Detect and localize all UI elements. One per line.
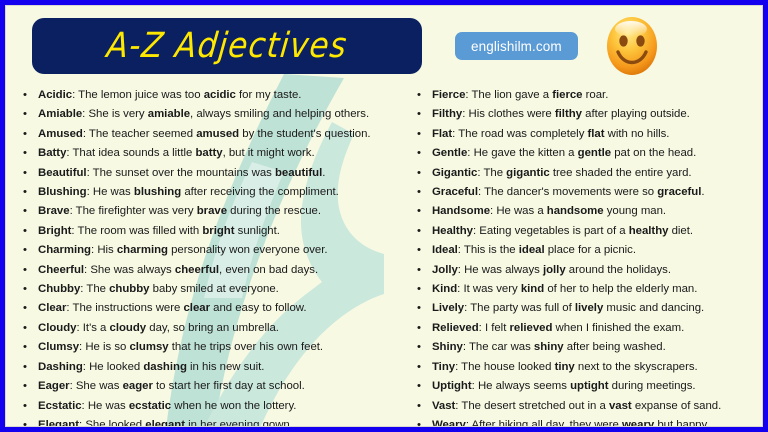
sentence-prefix: She is very bbox=[88, 108, 147, 120]
adjective-item: •Tiny: The house looked tiny next to the… bbox=[412, 358, 756, 377]
bullet-icon: • bbox=[417, 416, 421, 427]
sentence-suffix: in her evening gown. bbox=[185, 419, 293, 427]
sentence-highlight: cloudy bbox=[110, 322, 147, 334]
sentence-suffix: . bbox=[701, 186, 704, 198]
adjective-word: Brave bbox=[38, 205, 70, 217]
adjective-item: •Fierce: The lion gave a fierce roar. bbox=[412, 86, 756, 105]
bullet-icon: • bbox=[417, 377, 421, 396]
bullet-icon: • bbox=[417, 319, 421, 338]
bullet-icon: • bbox=[417, 338, 421, 357]
sentence-highlight: flat bbox=[588, 128, 605, 140]
adjective-item: •Chubby: The chubby baby smiled at every… bbox=[18, 280, 406, 299]
bullet-icon: • bbox=[23, 241, 27, 260]
sentence-suffix: when I finished the exam. bbox=[552, 322, 684, 334]
sentence-highlight: amiable bbox=[148, 108, 190, 120]
sentence-highlight: ideal bbox=[519, 244, 545, 256]
adjective-word: Charming bbox=[38, 244, 91, 256]
adjective-sentence: Eating vegetables is part of a healthy d… bbox=[479, 225, 693, 237]
adjective-word: Ecstatic bbox=[38, 400, 82, 412]
bullet-icon: • bbox=[417, 183, 421, 202]
sentence-highlight: shiny bbox=[534, 341, 564, 353]
poster-header: A-Z Adjectives englishilm.com bbox=[6, 6, 762, 86]
adjective-item: •Shiny: The car was shiny after being wa… bbox=[412, 338, 756, 357]
adjective-sentence: The party was full of lively music and d… bbox=[470, 302, 704, 314]
sentence-suffix: during meetings. bbox=[609, 380, 696, 392]
sentence-suffix: after being washed. bbox=[564, 341, 666, 353]
bullet-icon: • bbox=[23, 164, 27, 183]
adjective-sentence: He gave the kitten a gentle pat on the h… bbox=[474, 147, 697, 159]
bullet-icon: • bbox=[23, 261, 27, 280]
smiley-face-icon bbox=[604, 15, 660, 77]
bullet-icon: • bbox=[23, 202, 27, 221]
bullet-icon: • bbox=[23, 105, 27, 124]
sentence-highlight: fierce bbox=[552, 89, 582, 101]
adjective-sentence: I felt relieved when I finished the exam… bbox=[485, 322, 684, 334]
sentence-highlight: dashing bbox=[143, 361, 187, 373]
sentence-suffix: day, so bring an umbrella. bbox=[146, 322, 279, 334]
left-column: •Acidic: The lemon juice was too acidic … bbox=[12, 86, 406, 427]
sentence-prefix: She was always bbox=[90, 264, 175, 276]
adjective-item: •Kind: It was very kind of her to help t… bbox=[412, 280, 756, 299]
sentence-suffix: sunlight. bbox=[235, 225, 280, 237]
sentence-prefix: The sunset over the mountains was bbox=[93, 167, 275, 179]
adjective-item: •Ideal: This is the ideal place for a pi… bbox=[412, 241, 756, 260]
adjective-sentence: His clothes were filthy after playing ou… bbox=[469, 108, 690, 120]
sentence-prefix: The firefighter was very bbox=[76, 205, 197, 217]
sentence-highlight: jolly bbox=[543, 264, 566, 276]
sentence-highlight: lively bbox=[575, 302, 603, 314]
adjective-item: •Elegant: She looked elegant in her even… bbox=[18, 416, 406, 427]
adjective-sentence: The lemon juice was too acidic for my ta… bbox=[78, 89, 301, 101]
adjective-item: •Graceful: The dancer's movements were s… bbox=[412, 183, 756, 202]
bullet-icon: • bbox=[417, 358, 421, 377]
sentence-prefix: The instructions were bbox=[73, 302, 184, 314]
sentence-highlight: vast bbox=[609, 400, 632, 412]
adjective-sentence: The car was shiny after being washed. bbox=[469, 341, 666, 353]
sentence-suffix: , always smiling and helping others. bbox=[190, 108, 369, 120]
sentence-prefix: He gave the kitten a bbox=[474, 147, 578, 159]
bullet-icon: • bbox=[417, 261, 421, 280]
sentence-suffix: for my taste. bbox=[236, 89, 302, 101]
adjective-sentence: The gigantic tree shaded the entire yard… bbox=[483, 167, 691, 179]
adjective-word: Beautiful bbox=[38, 167, 87, 179]
sentence-suffix: after playing outside. bbox=[582, 108, 690, 120]
site-badge[interactable]: englishilm.com bbox=[455, 32, 578, 60]
bullet-icon: • bbox=[23, 144, 27, 163]
sentence-suffix: . bbox=[322, 167, 325, 179]
sentence-highlight: tiny bbox=[555, 361, 575, 373]
adjective-sentence: After hiking all day, they were weary bu… bbox=[472, 419, 710, 427]
poster-frame: A-Z Adjectives englishilm.com bbox=[0, 0, 768, 432]
sentence-highlight: bright bbox=[202, 225, 234, 237]
adjective-word: Elegant bbox=[38, 419, 79, 427]
adjective-item: •Dashing: He looked dashing in his new s… bbox=[18, 358, 406, 377]
adjective-word: Blushing bbox=[38, 186, 87, 198]
adjective-sentence: She is very amiable, always smiling and … bbox=[88, 108, 369, 120]
adjective-item: •Charming: His charming personality won … bbox=[18, 241, 406, 260]
sentence-highlight: eager bbox=[123, 380, 153, 392]
sentence-suffix: personality won everyone over. bbox=[168, 244, 328, 256]
adjective-item: •Flat: The road was completely flat with… bbox=[412, 125, 756, 144]
adjective-sentence: It was very kind of her to help the elde… bbox=[463, 283, 697, 295]
adjective-sentence: The teacher seemed amused by the student… bbox=[89, 128, 371, 140]
adjective-word: Vast bbox=[432, 400, 455, 412]
adjective-word: Cloudy bbox=[38, 322, 76, 334]
sentence-prefix: That idea sounds a little bbox=[72, 147, 195, 159]
sentence-suffix: after receiving the compliment. bbox=[181, 186, 339, 198]
adjective-word: Shiny bbox=[432, 341, 463, 353]
sentence-suffix: , even on bad days. bbox=[219, 264, 318, 276]
sentence-prefix: The room was filled with bbox=[78, 225, 203, 237]
adjective-word: Dashing bbox=[38, 361, 83, 373]
adjective-item: •Blushing: He was blushing after receivi… bbox=[18, 183, 406, 202]
adjective-sentence: The sunset over the mountains was beauti… bbox=[93, 167, 326, 179]
adjective-list-left: •Acidic: The lemon juice was too acidic … bbox=[18, 86, 406, 427]
adjective-word: Chubby bbox=[38, 283, 80, 295]
adjective-sentence: His charming personality won everyone ov… bbox=[97, 244, 327, 256]
adjective-item: •Acidic: The lemon juice was too acidic … bbox=[18, 86, 406, 105]
adjective-sentence: She was always cheerful, even on bad day… bbox=[90, 264, 318, 276]
sentence-suffix: with no hills. bbox=[605, 128, 670, 140]
adjective-sentence: The room was filled with bright sunlight… bbox=[78, 225, 280, 237]
adjective-list-right: •Fierce: The lion gave a fierce roar.•Fi… bbox=[412, 86, 756, 427]
sentence-suffix: that he trips over his own feet. bbox=[169, 341, 323, 353]
sentence-prefix: The car was bbox=[469, 341, 534, 353]
right-column: •Fierce: The lion gave a fierce roar.•Fi… bbox=[406, 86, 756, 427]
adjective-word: Relieved bbox=[432, 322, 479, 334]
adjective-word: Amused bbox=[38, 128, 83, 140]
sentence-suffix: music and dancing. bbox=[603, 302, 704, 314]
bullet-icon: • bbox=[417, 202, 421, 221]
sentence-highlight: graceful bbox=[657, 186, 701, 198]
bullet-icon: • bbox=[23, 125, 27, 144]
bullet-icon: • bbox=[417, 86, 421, 105]
adjective-sentence: The house looked tiny next to the skyscr… bbox=[461, 361, 698, 373]
sentence-highlight: batty bbox=[195, 147, 222, 159]
sentence-suffix: roar. bbox=[583, 89, 609, 101]
bullet-icon: • bbox=[23, 377, 27, 396]
sentence-highlight: clear bbox=[183, 302, 210, 314]
bullet-icon: • bbox=[23, 86, 27, 105]
bullet-icon: • bbox=[23, 183, 27, 202]
sentence-highlight: uptight bbox=[570, 380, 608, 392]
adjective-sentence: He always seems uptight during meetings. bbox=[478, 380, 696, 392]
sentence-prefix: It's a bbox=[83, 322, 110, 334]
adjective-word: Flat bbox=[432, 128, 452, 140]
sentence-prefix: The bbox=[483, 167, 506, 179]
sentence-suffix: young man. bbox=[604, 205, 666, 217]
sentence-prefix: After hiking all day, they were bbox=[472, 419, 622, 427]
adjective-columns: •Acidic: The lemon juice was too acidic … bbox=[6, 86, 762, 427]
sentence-prefix: His bbox=[97, 244, 117, 256]
sentence-prefix: The dancer's movements were so bbox=[484, 186, 657, 198]
adjective-item: •Cheerful: She was always cheerful, even… bbox=[18, 261, 406, 280]
sentence-suffix: tree shaded the entire yard. bbox=[550, 167, 692, 179]
adjective-sentence: The dancer's movements were so graceful. bbox=[484, 186, 704, 198]
sentence-highlight: ecstatic bbox=[129, 400, 171, 412]
adjective-word: Cheerful bbox=[38, 264, 84, 276]
adjective-word: Lively bbox=[432, 302, 464, 314]
adjective-word: Amiable bbox=[38, 108, 82, 120]
sentence-prefix: He was bbox=[93, 186, 134, 198]
sentence-highlight: healthy bbox=[629, 225, 669, 237]
sentence-suffix: pat on the head. bbox=[611, 147, 696, 159]
adjective-word: Bright bbox=[38, 225, 71, 237]
sentence-highlight: elegant bbox=[145, 419, 185, 427]
adjective-sentence: It's a cloudy day, so bring an umbrella. bbox=[83, 322, 279, 334]
adjective-word: Eager bbox=[38, 380, 70, 392]
sentence-prefix: It was very bbox=[463, 283, 520, 295]
sentence-suffix: expanse of sand. bbox=[632, 400, 722, 412]
adjective-word: Weary bbox=[432, 419, 466, 427]
bullet-icon: • bbox=[417, 241, 421, 260]
sentence-suffix: during the rescue. bbox=[227, 205, 321, 217]
adjective-sentence: She looked elegant in her evening gown. bbox=[85, 419, 293, 427]
sentence-highlight: weary bbox=[622, 419, 654, 427]
adjective-word: Gentle bbox=[432, 147, 467, 159]
adjective-word: Acidic bbox=[38, 89, 72, 101]
sentence-highlight: handsome bbox=[547, 205, 604, 217]
adjective-sentence: He was ecstatic when he won the lottery. bbox=[88, 400, 297, 412]
bullet-icon: • bbox=[23, 358, 27, 377]
bullet-icon: • bbox=[417, 144, 421, 163]
adjective-word: Gigantic bbox=[432, 167, 477, 179]
site-badge-label: englishilm.com bbox=[471, 39, 562, 54]
sentence-prefix: The bbox=[86, 283, 109, 295]
adjective-sentence: He is so clumsy that he trips over his o… bbox=[85, 341, 323, 353]
sentence-prefix: He was bbox=[88, 400, 129, 412]
adjective-sentence: The lion gave a fierce roar. bbox=[471, 89, 608, 101]
adjective-item: •Bright: The room was filled with bright… bbox=[18, 222, 406, 241]
sentence-prefix: The house looked bbox=[461, 361, 554, 373]
adjective-sentence: That idea sounds a little batty, but it … bbox=[72, 147, 314, 159]
poster-page: A-Z Adjectives englishilm.com bbox=[5, 5, 763, 427]
sentence-suffix: baby smiled at everyone. bbox=[149, 283, 278, 295]
adjective-word: Graceful bbox=[432, 186, 478, 198]
adjective-item: •Relieved: I felt relieved when I finish… bbox=[412, 319, 756, 338]
sentence-suffix: , but it might work. bbox=[223, 147, 315, 159]
adjective-item: •Vast: The desert stretched out in a vas… bbox=[412, 397, 756, 416]
sentence-prefix: The party was full of bbox=[470, 302, 575, 314]
sentence-prefix: She looked bbox=[85, 419, 145, 427]
bullet-icon: • bbox=[23, 416, 27, 427]
adjective-word: Uptight bbox=[432, 380, 472, 392]
adjective-word: Clear bbox=[38, 302, 66, 314]
sentence-suffix: when he won the lottery. bbox=[171, 400, 296, 412]
adjective-sentence: The road was completely flat with no hil… bbox=[458, 128, 669, 140]
sentence-highlight: clumsy bbox=[129, 341, 168, 353]
sentence-prefix: The lemon juice was too bbox=[78, 89, 204, 101]
adjective-word: Clumsy bbox=[38, 341, 79, 353]
sentence-prefix: He looked bbox=[89, 361, 143, 373]
sentence-prefix: The desert stretched out in a bbox=[461, 400, 609, 412]
adjective-item: •Gigantic: The gigantic tree shaded the … bbox=[412, 164, 756, 183]
bullet-icon: • bbox=[23, 338, 27, 357]
adjective-sentence: The instructions were clear and easy to … bbox=[73, 302, 307, 314]
title-banner: A-Z Adjectives bbox=[32, 18, 422, 74]
adjective-sentence: The firefighter was very brave during th… bbox=[76, 205, 321, 217]
sentence-prefix: The lion gave a bbox=[471, 89, 552, 101]
sentence-suffix: diet. bbox=[668, 225, 693, 237]
sentence-prefix: Eating vegetables is part of a bbox=[479, 225, 628, 237]
adjective-word: Ideal bbox=[432, 244, 458, 256]
adjective-item: •Cloudy: It's a cloudy day, so bring an … bbox=[18, 319, 406, 338]
adjective-word: Kind bbox=[432, 283, 457, 295]
adjective-word: Healthy bbox=[432, 225, 473, 237]
sentence-highlight: charming bbox=[117, 244, 168, 256]
adjective-word: Batty bbox=[38, 147, 66, 159]
bullet-icon: • bbox=[417, 299, 421, 318]
sentence-highlight: relieved bbox=[510, 322, 553, 334]
adjective-word: Filthy bbox=[432, 108, 462, 120]
sentence-suffix: to start her first day at school. bbox=[153, 380, 305, 392]
sentence-highlight: kind bbox=[521, 283, 544, 295]
sentence-highlight: blushing bbox=[134, 186, 181, 198]
sentence-highlight: chubby bbox=[109, 283, 149, 295]
adjective-item: •Ecstatic: He was ecstatic when he won t… bbox=[18, 397, 406, 416]
sentence-prefix: I felt bbox=[485, 322, 510, 334]
sentence-highlight: acidic bbox=[204, 89, 236, 101]
adjective-sentence: He was always jolly around the holidays. bbox=[464, 264, 671, 276]
adjective-sentence: The chubby baby smiled at everyone. bbox=[86, 283, 278, 295]
adjective-word: Tiny bbox=[432, 361, 455, 373]
sentence-prefix: The road was completely bbox=[458, 128, 587, 140]
sentence-highlight: beautiful bbox=[275, 167, 322, 179]
sentence-prefix: She was bbox=[76, 380, 123, 392]
adjective-word: Handsome bbox=[432, 205, 490, 217]
sentence-suffix: around the holidays. bbox=[566, 264, 671, 276]
bullet-icon: • bbox=[23, 222, 27, 241]
bullet-icon: • bbox=[417, 105, 421, 124]
adjective-item: •Uptight: He always seems uptight during… bbox=[412, 377, 756, 396]
sentence-suffix: but happy. bbox=[654, 419, 709, 427]
bullet-icon: • bbox=[23, 319, 27, 338]
adjective-sentence: He was a handsome young man. bbox=[496, 205, 666, 217]
adjective-item: •Clear: The instructions were clear and … bbox=[18, 299, 406, 318]
adjective-word: Jolly bbox=[432, 264, 458, 276]
adjective-item: •Clumsy: He is so clumsy that he trips o… bbox=[18, 338, 406, 357]
sentence-suffix: by the student's question. bbox=[239, 128, 370, 140]
sentence-highlight: gentle bbox=[578, 147, 611, 159]
sentence-prefix: He was always bbox=[464, 264, 543, 276]
adjective-item: •Batty: That idea sounds a little batty,… bbox=[18, 144, 406, 163]
adjective-item: •Eager: She was eager to start her first… bbox=[18, 377, 406, 396]
sentence-prefix: The teacher seemed bbox=[89, 128, 196, 140]
adjective-sentence: She was eager to start her first day at … bbox=[76, 380, 305, 392]
sentence-suffix: in his new suit. bbox=[187, 361, 265, 373]
adjective-sentence: He was blushing after receiving the comp… bbox=[93, 186, 339, 198]
sentence-suffix: place for a picnic. bbox=[545, 244, 636, 256]
adjective-item: •Handsome: He was a handsome young man. bbox=[412, 202, 756, 221]
sentence-suffix: of her to help the elderly man. bbox=[544, 283, 697, 295]
adjective-item: •Amused: The teacher seemed amused by th… bbox=[18, 125, 406, 144]
adjective-sentence: He looked dashing in his new suit. bbox=[89, 361, 264, 373]
bullet-icon: • bbox=[417, 164, 421, 183]
bullet-icon: • bbox=[417, 222, 421, 241]
sentence-prefix: This is the bbox=[464, 244, 519, 256]
bullet-icon: • bbox=[417, 125, 421, 144]
sentence-highlight: cheerful bbox=[175, 264, 219, 276]
bullet-icon: • bbox=[417, 280, 421, 299]
adjective-item: •Lively: The party was full of lively mu… bbox=[412, 299, 756, 318]
sentence-highlight: gigantic bbox=[506, 167, 550, 179]
sentence-prefix: His clothes were bbox=[469, 108, 555, 120]
adjective-item: •Jolly: He was always jolly around the h… bbox=[412, 261, 756, 280]
sentence-suffix: and easy to follow. bbox=[210, 302, 306, 314]
page-title: A-Z Adjectives bbox=[105, 29, 349, 64]
sentence-prefix: He is so bbox=[85, 341, 129, 353]
sentence-suffix: next to the skyscrapers. bbox=[575, 361, 698, 373]
adjective-sentence: The desert stretched out in a vast expan… bbox=[461, 400, 721, 412]
adjective-word: Fierce bbox=[432, 89, 465, 101]
adjective-sentence: This is the ideal place for a picnic. bbox=[464, 244, 636, 256]
sentence-prefix: He always seems bbox=[478, 380, 570, 392]
bullet-icon: • bbox=[23, 299, 27, 318]
adjective-item: •Healthy: Eating vegetables is part of a… bbox=[412, 222, 756, 241]
adjective-item: •Filthy: His clothes were filthy after p… bbox=[412, 105, 756, 124]
bullet-icon: • bbox=[23, 280, 27, 299]
bullet-icon: • bbox=[23, 397, 27, 416]
adjective-item: •Gentle: He gave the kitten a gentle pat… bbox=[412, 144, 756, 163]
sentence-highlight: brave bbox=[197, 205, 227, 217]
bullet-icon: • bbox=[417, 397, 421, 416]
adjective-item: •Amiable: She is very amiable, always sm… bbox=[18, 105, 406, 124]
sentence-highlight: filthy bbox=[555, 108, 582, 120]
adjective-item: •Beautiful: The sunset over the mountain… bbox=[18, 164, 406, 183]
adjective-item: •Brave: The firefighter was very brave d… bbox=[18, 202, 406, 221]
adjective-item: •Weary: After hiking all day, they were … bbox=[412, 416, 756, 427]
sentence-highlight: amused bbox=[196, 128, 239, 140]
sentence-prefix: He was a bbox=[496, 205, 546, 217]
